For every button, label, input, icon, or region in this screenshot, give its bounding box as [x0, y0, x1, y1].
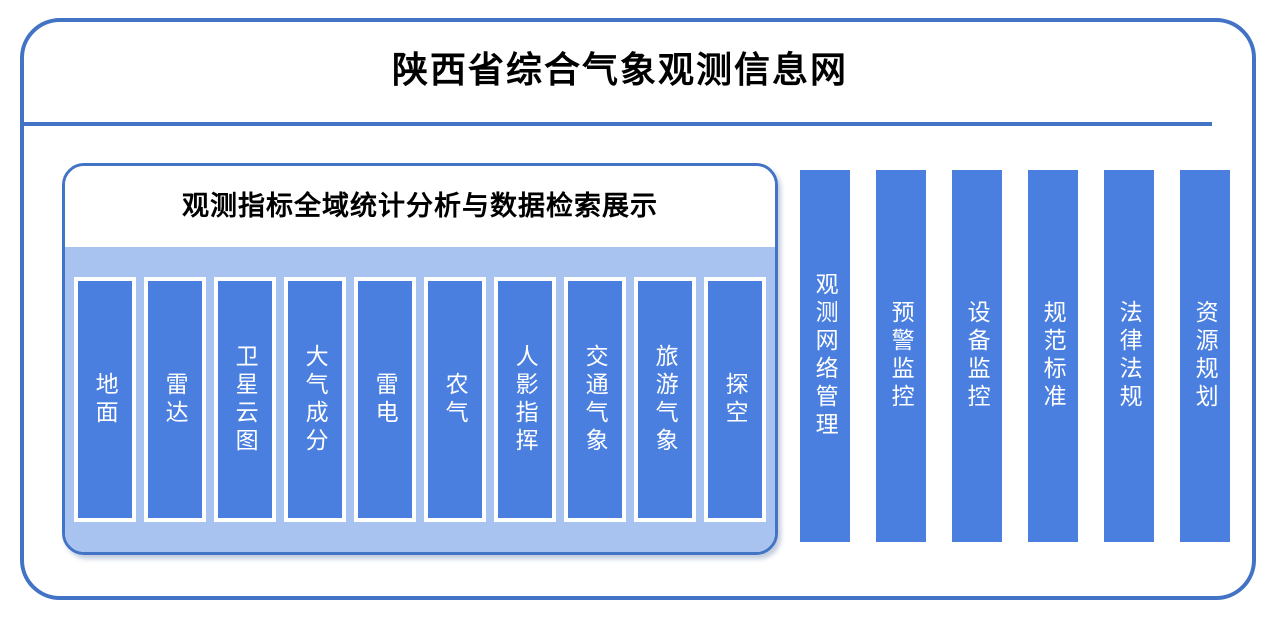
chip-label: 农气	[443, 372, 467, 428]
support-bar-resource-planning[interactable]: 资源规划	[1180, 170, 1230, 542]
chip-label: 大气成分	[303, 344, 327, 456]
chip-label: 人影指挥	[513, 344, 537, 456]
analysis-panel: 观测指标全域统计分析与数据检索展示 地面 雷达 卫星云图 大气成分 雷电 农气 …	[62, 163, 778, 555]
page-title: 陕西省综合气象观测信息网	[24, 20, 1216, 120]
chip-label: 雷电	[373, 372, 397, 428]
support-module-stack: 观测网络管理 预警监控 设备监控 规范标准 法律法规 资源规划	[800, 170, 1230, 542]
support-bar-observation-network-management[interactable]: 观测网络管理	[800, 170, 850, 542]
observation-chip-satellite-cloud-map[interactable]: 卫星云图	[214, 277, 276, 522]
support-bar-equipment-monitoring[interactable]: 设备监控	[952, 170, 1002, 542]
observation-chip-agrometeorology[interactable]: 农气	[424, 277, 486, 522]
chip-label: 卫星云图	[233, 344, 257, 456]
analysis-panel-body: 地面 雷达 卫星云图 大气成分 雷电 农气 人影指挥 交通气象	[65, 247, 775, 552]
bar-label: 预警监控	[889, 300, 913, 412]
support-bar-warning-monitoring[interactable]: 预警监控	[876, 170, 926, 542]
observation-chip-lightning[interactable]: 雷电	[354, 277, 416, 522]
chip-label: 雷达	[163, 372, 187, 428]
chip-label: 交通气象	[583, 344, 607, 456]
bar-label: 资源规划	[1193, 300, 1217, 412]
chip-label: 旅游气象	[653, 344, 677, 456]
chip-label: 地面	[93, 372, 117, 428]
observation-chip-ground[interactable]: 地面	[74, 277, 136, 522]
title-divider	[24, 122, 1212, 126]
observation-chip-tourism-meteorology[interactable]: 旅游气象	[634, 277, 696, 522]
observation-chip-weather-modification-command[interactable]: 人影指挥	[494, 277, 556, 522]
chip-label: 探空	[723, 372, 747, 428]
bar-label: 观测网络管理	[813, 272, 837, 440]
observation-chip-traffic-meteorology[interactable]: 交通气象	[564, 277, 626, 522]
observation-chip-atmospheric-composition[interactable]: 大气成分	[284, 277, 346, 522]
support-bar-laws-regulations[interactable]: 法律法规	[1104, 170, 1154, 542]
bar-label: 设备监控	[965, 300, 989, 412]
observation-chip-radar[interactable]: 雷达	[144, 277, 206, 522]
bar-label: 法律法规	[1117, 300, 1141, 412]
bar-label: 规范标准	[1041, 300, 1065, 412]
support-bar-specification-standards[interactable]: 规范标准	[1028, 170, 1078, 542]
observation-chip-sounding[interactable]: 探空	[704, 277, 766, 522]
diagram-canvas: 陕西省综合气象观测信息网 观测指标全域统计分析与数据检索展示 地面 雷达 卫星云…	[0, 0, 1285, 618]
analysis-panel-title: 观测指标全域统计分析与数据检索展示	[65, 166, 775, 247]
